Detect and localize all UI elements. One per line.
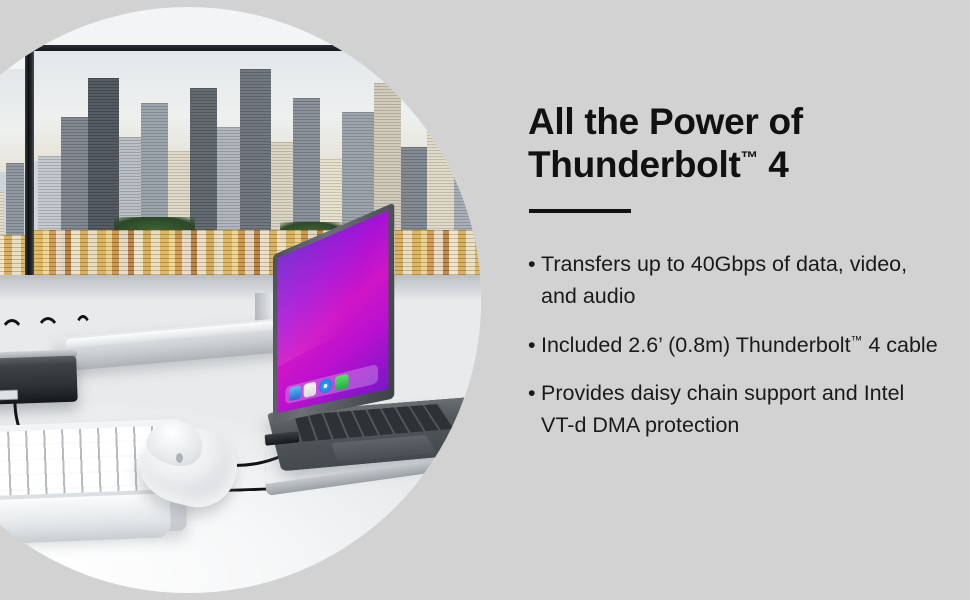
product-photo	[0, 7, 481, 593]
promo-banner: All the Power of Thunderbolt™ 4 • Transf…	[0, 0, 970, 600]
feature-text: Included 2.6’ (0.8m) Thunderbolt™ 4 cabl…	[541, 329, 938, 361]
headline-line-2-prefix: Thunderbolt	[528, 144, 741, 185]
headline-line-1: All the Power of	[528, 101, 803, 142]
feature-item-2: • Included 2.6’ (0.8m) Thunderbolt™ 4 ca…	[528, 329, 938, 361]
monitor-top-bezel	[34, 45, 481, 51]
bullet-marker: •	[528, 377, 541, 442]
copy-column: All the Power of Thunderbolt™ 4 • Transf…	[528, 0, 948, 600]
messages-icon	[335, 373, 348, 390]
monitor-center-bezel	[25, 47, 34, 295]
safari-icon	[319, 377, 332, 394]
bullet-marker: •	[528, 329, 541, 361]
headline-line-2-suffix: 4	[768, 144, 788, 185]
bullet-marker: •	[528, 248, 541, 313]
feature-item-1: • Transfers up to 40Gbps of data, video,…	[528, 248, 938, 313]
finder-icon	[289, 385, 301, 401]
feature-list: • Transfers up to 40Gbps of data, video,…	[528, 248, 938, 457]
feature-item-3: • Provides daisy chain support and Intel…	[528, 377, 938, 442]
laptop	[273, 255, 481, 505]
headline-divider	[529, 209, 631, 213]
monitor-left-screen	[0, 69, 25, 293]
vertical-mouse-scroll	[176, 453, 183, 463]
trademark-symbol: ™	[741, 148, 759, 168]
headline: All the Power of Thunderbolt™ 4	[528, 100, 928, 187]
city-skyline-left	[0, 69, 25, 293]
laptop-trackpad	[331, 435, 437, 462]
feature-text: Transfers up to 40Gbps of data, video, a…	[541, 248, 938, 313]
launchpad-icon	[304, 381, 316, 398]
macos-dock	[285, 364, 378, 404]
feature-text-part-1: Included 2.6’ (0.8m) Thunderbolt	[541, 333, 851, 357]
feature-text: Provides daisy chain support and Intel V…	[541, 377, 938, 442]
trademark-symbol: ™	[851, 332, 863, 346]
ethernet-port	[0, 389, 18, 400]
feature-text-part-2: 4 cable	[862, 333, 937, 357]
